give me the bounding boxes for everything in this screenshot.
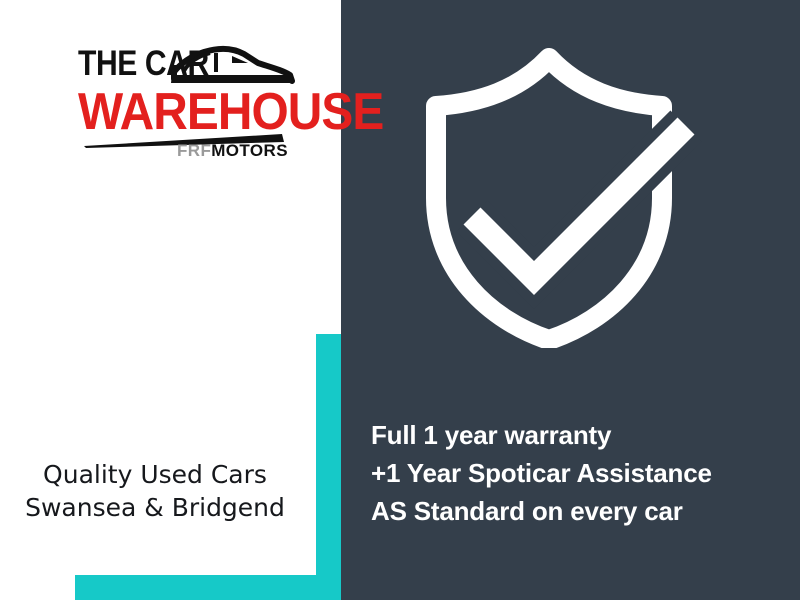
tagline-line-1: Quality Used Cars bbox=[0, 458, 310, 491]
teal-accent-horizontal-bar bbox=[75, 575, 341, 600]
tagline-line-2: Swansea & Bridgend bbox=[0, 491, 310, 524]
shield-check-icon bbox=[414, 48, 704, 348]
car-silhouette-icon bbox=[170, 42, 296, 86]
logo-top-row: THE CAR bbox=[78, 42, 293, 88]
logo-subbrand: FRFMOTORS bbox=[177, 142, 288, 160]
logo-line-warehouse: WAREHOUSE bbox=[78, 86, 383, 138]
promo-line-1: Full 1 year warranty bbox=[371, 416, 791, 454]
promo-line-2: +1 Year Spoticar Assistance bbox=[371, 454, 791, 492]
logo-subbrand-motors: MOTORS bbox=[211, 141, 288, 160]
brand-logo: THE CAR WAREHOUSE FRFMOTORS bbox=[78, 42, 293, 162]
promo-line-3: AS Standard on every car bbox=[371, 492, 791, 530]
promo-headline: Full 1 year warranty +1 Year Spoticar As… bbox=[371, 416, 791, 530]
teal-accent-vertical-bar bbox=[316, 334, 341, 600]
promo-banner: THE CAR WAREHOUSE FRFMOTORS Quality Used… bbox=[0, 0, 800, 600]
tagline: Quality Used Cars Swansea & Bridgend bbox=[0, 458, 310, 524]
logo-subbrand-frf: FRF bbox=[177, 141, 211, 160]
